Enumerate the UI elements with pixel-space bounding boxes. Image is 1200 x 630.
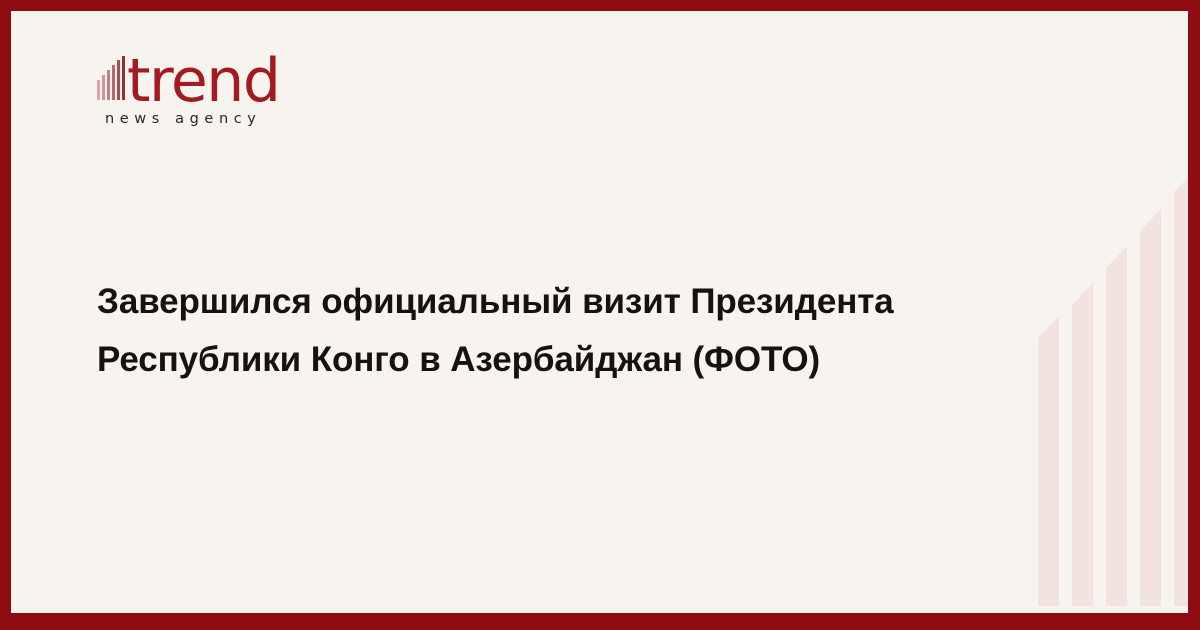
card-canvas: trend news agency Завершился официальный… [11, 11, 1188, 613]
ascending-bars-icon [97, 56, 129, 100]
logo-tagline: news agency [105, 111, 262, 127]
watermark-bar-1 [1038, 316, 1059, 606]
share-card: trend news agency Завершился официальный… [0, 0, 1200, 630]
watermark-bar-3 [1106, 246, 1127, 606]
logo-word: trend [127, 51, 279, 111]
ascending-bars-watermark [1027, 170, 1187, 606]
watermark-bar-2 [1072, 283, 1093, 606]
trend-logo[interactable]: trend news agency [97, 45, 397, 137]
headline-line-2: Республики Конго в Азербайджан (ФОТО) [97, 331, 997, 389]
watermark-bar-4 [1140, 209, 1161, 606]
logo-wordmark-row: trend [97, 45, 397, 107]
headline-line-1: Завершился официальный визит Президента [97, 273, 997, 331]
watermark-bar-5 [1174, 170, 1188, 606]
article-headline: Завершился официальный визит Президента … [97, 273, 997, 389]
